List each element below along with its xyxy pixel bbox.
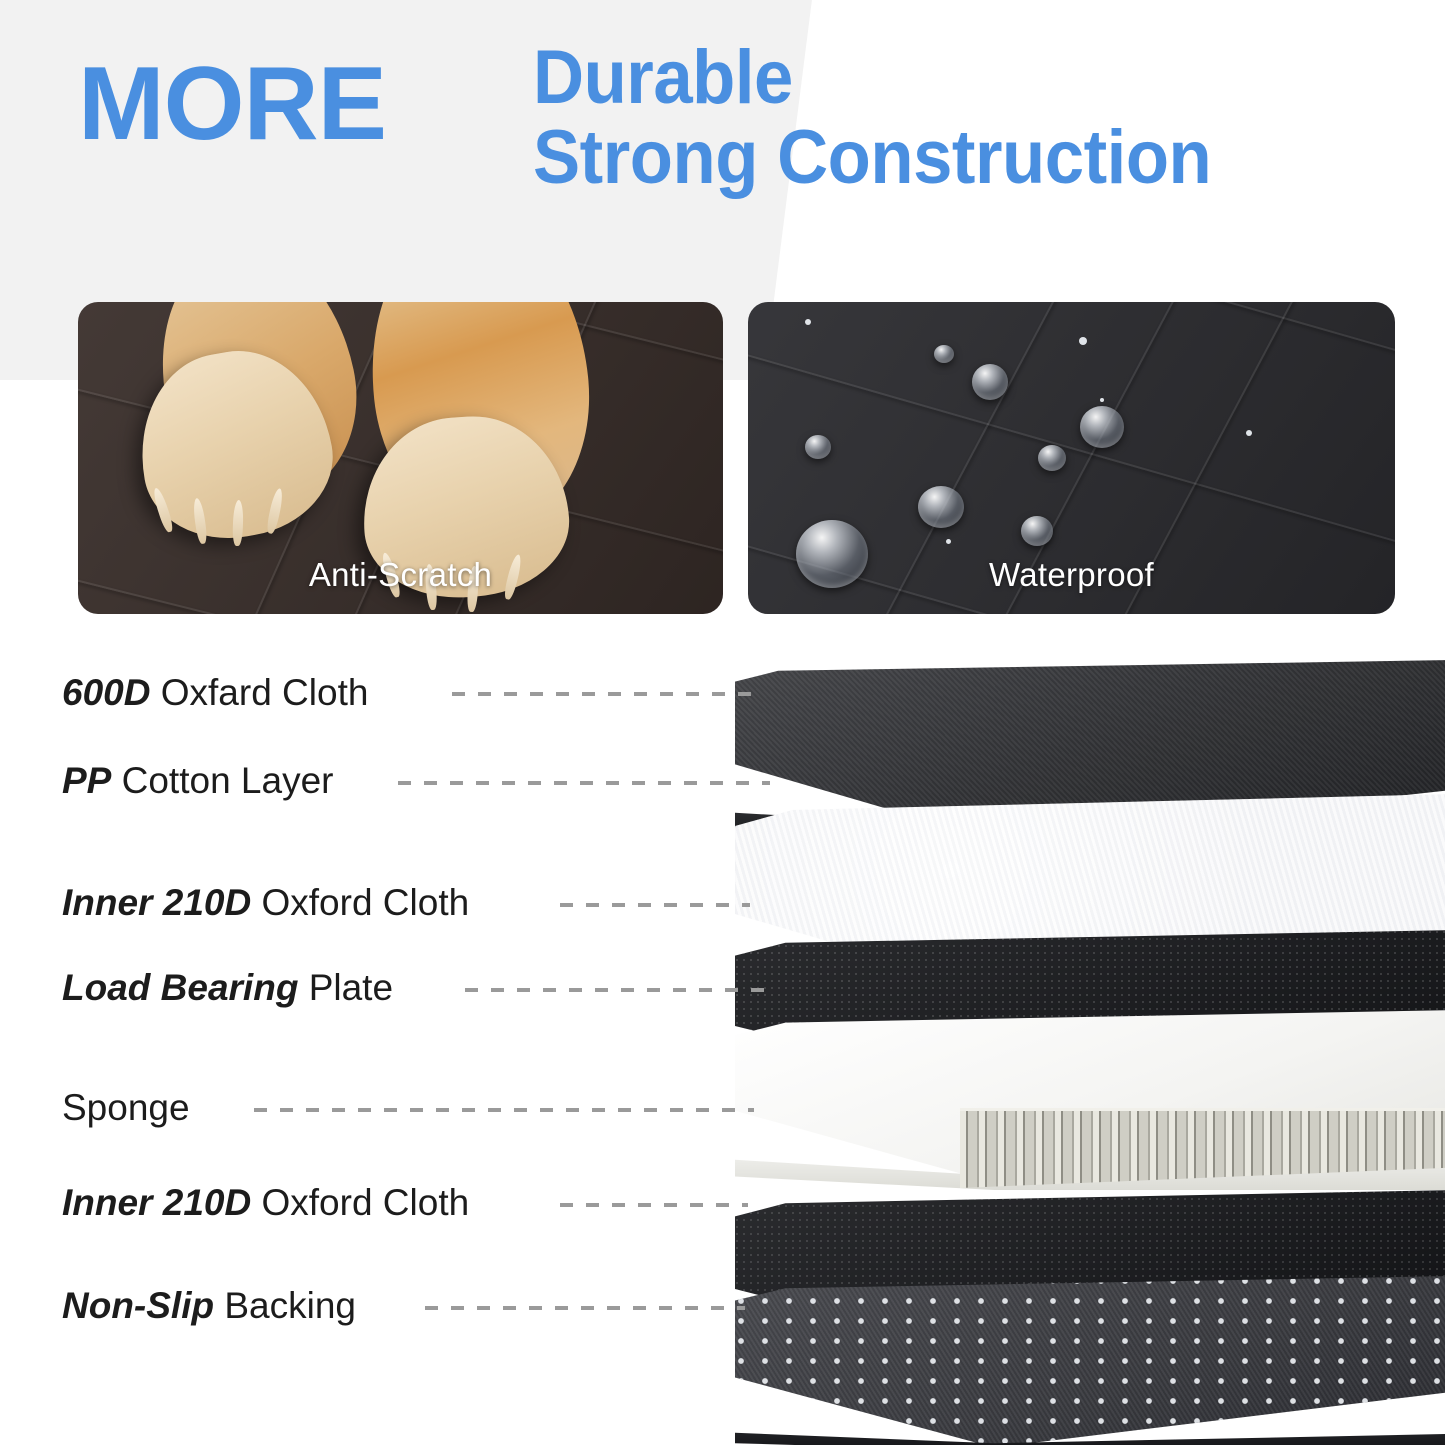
layer-label-sponge: Sponge [62,1087,190,1129]
infographic-page: MORE Durable Strong Construction [0,0,1445,1445]
layer-label-emphasis: Load Bearing [62,967,298,1008]
layer-label-rest: Oxford Cloth [251,882,469,923]
leader-line-load-bearing-plate [465,988,765,992]
exploded-layer-diagram [0,0,1445,1445]
layer-art-sponge-honeycomb [960,1108,1445,1188]
layer-label-inner-210d-lower: Inner 210D Oxford Cloth [62,1182,469,1224]
leader-line-inner-210d-lower [560,1203,748,1207]
layer-label-rest: Sponge [62,1087,190,1128]
layer-label-rest: Cotton Layer [111,760,333,801]
layer-label-rest: Plate [298,967,393,1008]
layer-label-emphasis: 600D [62,672,150,713]
leader-line-sponge [254,1108,754,1112]
layer-label-600d-oxford-cloth: 600D Oxfard Cloth [62,672,368,714]
layer-label-inner-210d-upper: Inner 210D Oxford Cloth [62,882,469,924]
layer-label-non-slip-backing: Non-Slip Backing [62,1285,356,1327]
layer-label-load-bearing-plate: Load Bearing Plate [62,967,393,1009]
layer-label-emphasis: Inner 210D [62,1182,251,1223]
leader-line-inner-210d-upper [560,903,750,907]
layer-label-emphasis: PP [62,760,111,801]
leader-line-600d [452,692,752,696]
layer-label-rest: Backing [214,1285,356,1326]
layer-label-rest: Oxford Cloth [251,1182,469,1223]
layer-label-rest: Oxfard Cloth [150,672,368,713]
leader-line-non-slip-backing [425,1306,745,1310]
layer-art-non-slip-backing [735,1276,1445,1445]
layer-label-emphasis: Inner 210D [62,882,251,923]
layer-label-pp-cotton-layer: PP Cotton Layer [62,760,334,802]
leader-line-pp-cotton [398,781,770,785]
layer-label-emphasis: Non-Slip [62,1285,214,1326]
